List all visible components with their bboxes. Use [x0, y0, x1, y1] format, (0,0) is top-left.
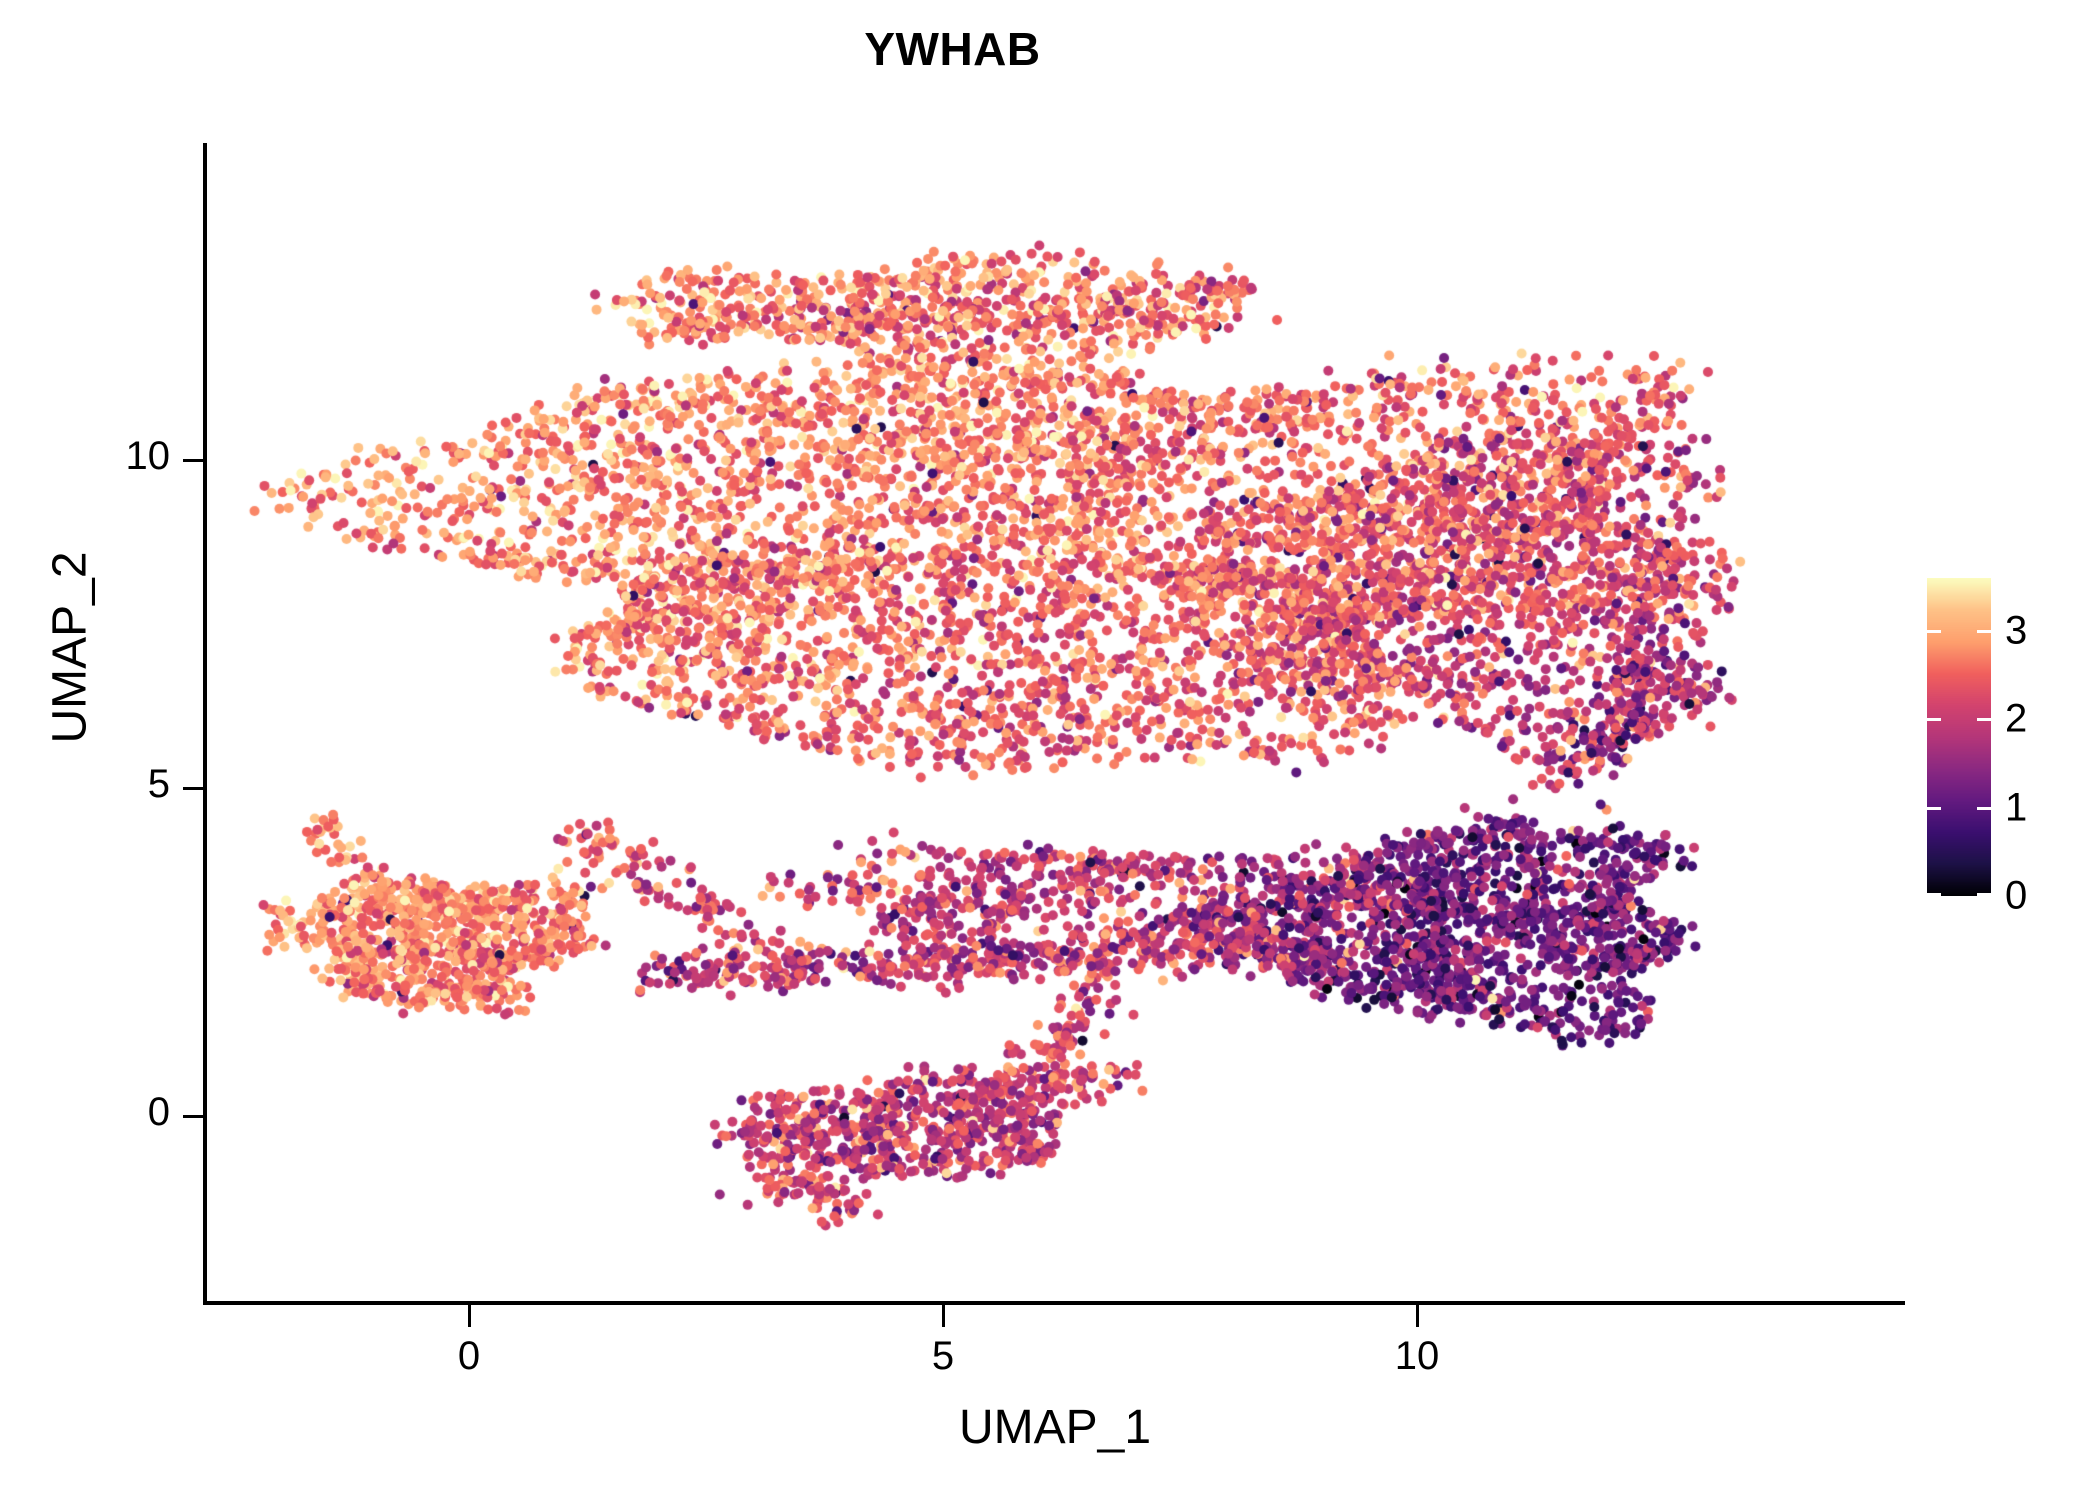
x-tick-mark [468, 1305, 471, 1327]
colorbar-tick-mark [1977, 630, 1991, 633]
y-axis-label: UMAP_2 [43, 418, 98, 878]
colorbar-tick-mark [1977, 893, 1991, 896]
colorbar-tick-label: 2 [2005, 697, 2027, 742]
y-axis-line [203, 143, 207, 1305]
colorbar-tick-label: 3 [2005, 609, 2027, 654]
y-tick-mark [183, 459, 205, 462]
colorbar-tick-mark [1927, 630, 1941, 633]
colorbar-tick-label: 0 [2005, 874, 2027, 919]
colorbar-tick-mark [1927, 807, 1941, 810]
umap-feature-plot: YWHAB 0510 0510 UMAP_2 UMAP_1 3210 [0, 0, 2100, 1500]
y-tick-mark [183, 1115, 205, 1118]
colorbar-gradient [1927, 578, 1991, 896]
colorbar-legend: 3210 [1927, 578, 1991, 896]
page-title: YWHAB [0, 22, 1905, 76]
colorbar-tick-mark [1927, 718, 1941, 721]
y-tick-label: 0 [30, 1090, 170, 1135]
x-axis-label: UMAP_1 [205, 1400, 1905, 1455]
y-tick-mark [183, 787, 205, 790]
colorbar-tick-mark [1927, 893, 1941, 896]
colorbar-tick-mark [1977, 807, 1991, 810]
colorbar-tick-label: 1 [2005, 785, 2027, 830]
x-tick-label: 10 [1347, 1334, 1487, 1379]
x-tick-label: 0 [399, 1334, 539, 1379]
x-tick-label: 5 [873, 1334, 1013, 1379]
scatter-panel [205, 143, 1905, 1302]
x-tick-mark [1416, 1305, 1419, 1327]
colorbar-tick-mark [1977, 718, 1991, 721]
x-axis-line [203, 1301, 1905, 1305]
x-tick-mark [942, 1305, 945, 1327]
scatter-canvas [205, 143, 1905, 1302]
